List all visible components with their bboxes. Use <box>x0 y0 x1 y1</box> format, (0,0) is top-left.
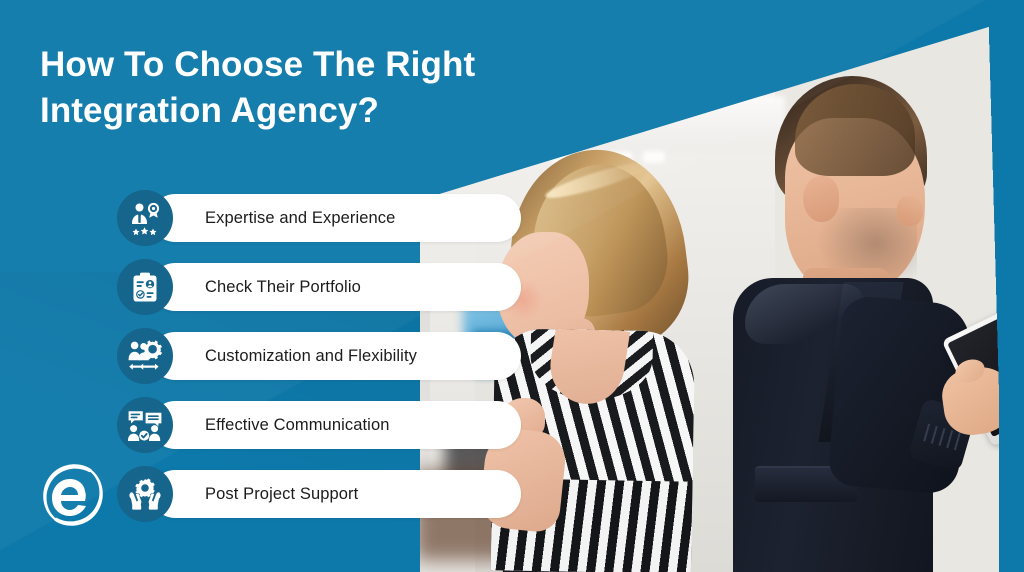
page-title: How To Choose The Right Integration Agen… <box>40 42 560 134</box>
list-item-pill[interactable]: Effective Communication <box>151 401 521 449</box>
list-item-pill[interactable]: Customization and Flexibility <box>151 332 521 380</box>
ceiling-panel <box>525 96 785 150</box>
right-blue-strip <box>999 0 1024 572</box>
clipboard-check-icon <box>117 259 173 315</box>
checklist: Expertise and Experience <box>117 190 521 522</box>
list-item-pill[interactable]: Expertise and Experience <box>151 194 521 242</box>
list-item[interactable]: Post Project Support <box>117 466 521 522</box>
list-item-label: Customization and Flexibility <box>205 347 417 366</box>
list-item[interactable]: Check Their Portfolio <box>117 259 521 315</box>
people-gear-arrows-icon <box>117 328 173 384</box>
people-chat-bubbles-icon <box>117 397 173 453</box>
list-item[interactable]: Customization and Flexibility <box>117 328 521 384</box>
man-ear <box>803 176 839 222</box>
list-item-pill[interactable]: Check Their Portfolio <box>151 263 521 311</box>
man-nose <box>897 196 923 226</box>
list-item-pill[interactable]: Post Project Support <box>151 470 521 518</box>
page-title-line-2: Integration Agency? <box>40 88 560 134</box>
list-item-label: Check Their Portfolio <box>205 278 361 297</box>
list-item-label: Effective Communication <box>205 416 390 435</box>
page-title-line-1: How To Choose The Right <box>40 42 560 88</box>
list-item[interactable]: Effective Communication <box>117 397 521 453</box>
infographic-banner: How To Choose The Right Integration Agen… <box>0 0 1024 572</box>
company-logo[interactable] <box>33 455 113 535</box>
list-item[interactable]: Expertise and Experience <box>117 190 521 246</box>
list-item-label: Post Project Support <box>205 485 358 504</box>
businessman-award-icon <box>117 190 173 246</box>
list-item-label: Expertise and Experience <box>205 209 395 228</box>
hands-holding-gear-icon <box>117 466 173 522</box>
